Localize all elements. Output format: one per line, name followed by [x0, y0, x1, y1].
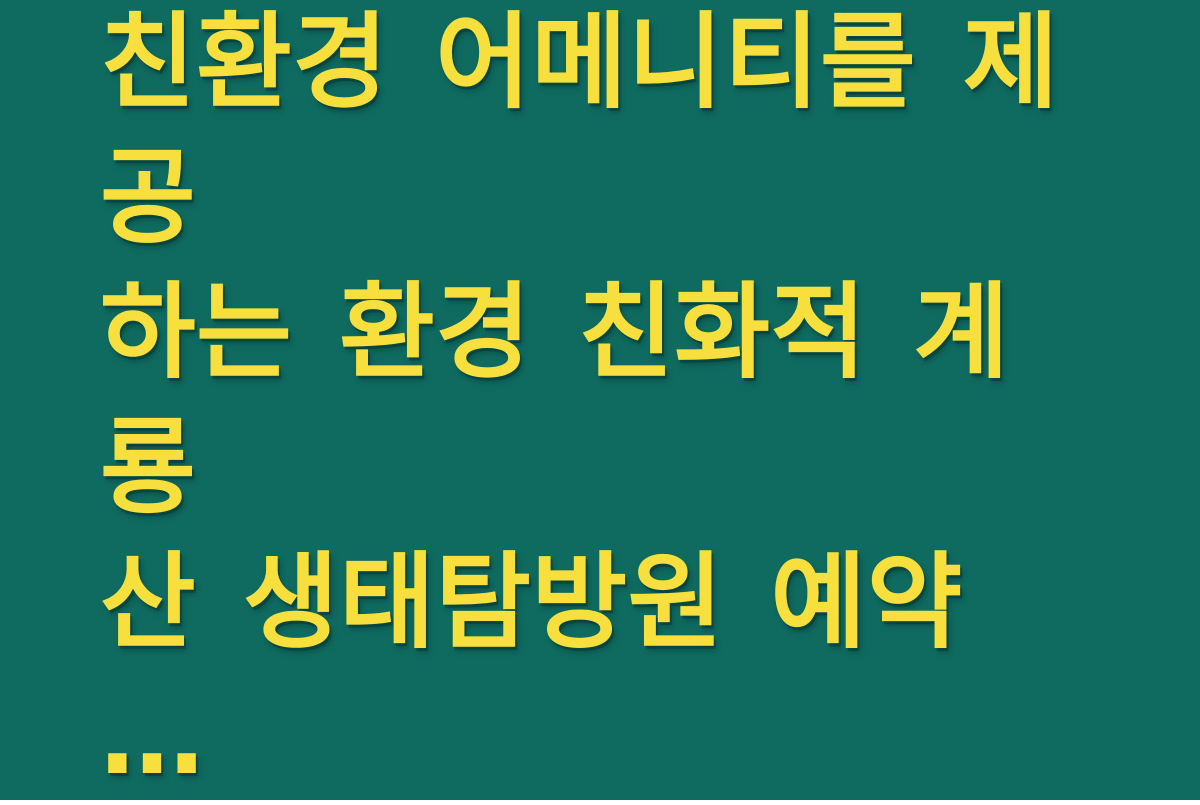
- headline-line-2: 하는 환경 친화적 계룡: [100, 265, 1100, 535]
- headline-text: 친환경 어메니티를 제공 하는 환경 친화적 계룡 산 생태탐방원 예약 …: [100, 0, 1100, 805]
- headline-line-3: 산 생태탐방원 예약 …: [100, 535, 1100, 805]
- headline-line-1: 친환경 어메니티를 제공: [100, 0, 1100, 265]
- text-banner: 친환경 어메니티를 제공 하는 환경 친화적 계룡 산 생태탐방원 예약 …: [0, 0, 1200, 800]
